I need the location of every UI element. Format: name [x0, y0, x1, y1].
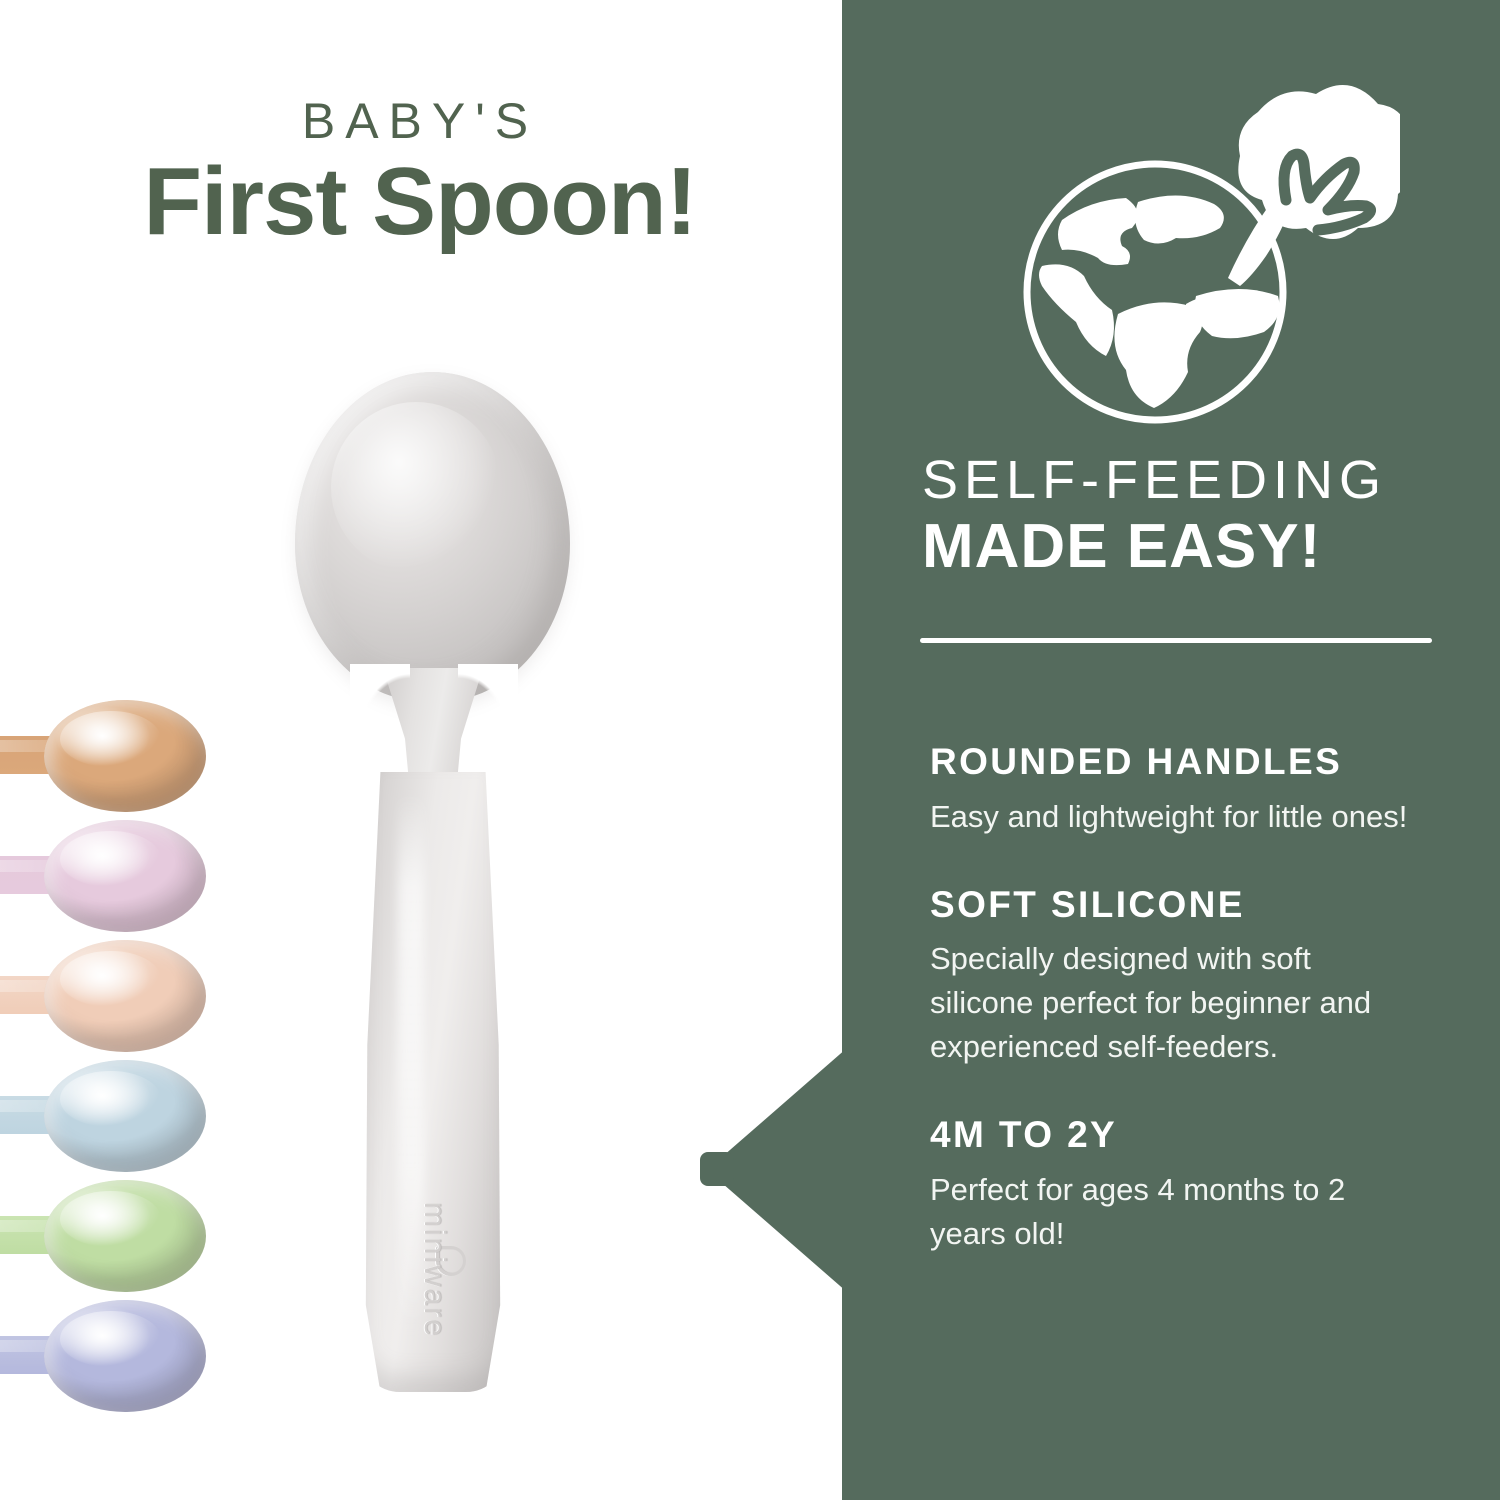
- feature-title: ROUNDED HANDLES: [930, 742, 1450, 783]
- feature-title: 4M TO 2Y: [930, 1115, 1450, 1156]
- page-title: First Spoon!: [0, 152, 840, 253]
- brand-emboss: miniware: [354, 1170, 514, 1370]
- colorway-spoon: [0, 940, 206, 1052]
- brand-emboss-label: miniware: [417, 1202, 451, 1338]
- feature-body: Easy and lightweight for little ones!: [930, 795, 1420, 839]
- spoon-bowl: [295, 372, 570, 702]
- feature-title: SOFT SILICONE: [930, 885, 1450, 926]
- panel-title: SELF-FEEDING MADE EASY!: [922, 452, 1462, 581]
- panel-pointer-arrow-tip: [700, 1152, 734, 1186]
- colorway-spoon: [0, 1300, 206, 1412]
- headline-block: BABY'S First Spoon!: [0, 96, 840, 253]
- globe-sprout-icon: [1000, 52, 1400, 432]
- product-infographic: BABY'S First Spoon! miniware: [0, 0, 1500, 1500]
- colorway-spoon-bowl: [44, 820, 206, 932]
- feature-body: Specially designed with soft silicone pe…: [930, 937, 1420, 1069]
- panel-title-line2: MADE EASY!: [922, 513, 1462, 581]
- panel-divider: [920, 638, 1432, 643]
- main-product-spoon: miniware: [290, 372, 580, 1402]
- colorway-spoon-bowl: [44, 940, 206, 1052]
- panel-title-line1: SELF-FEEDING: [922, 452, 1462, 509]
- spoon-neck-fillet-right: [458, 664, 518, 744]
- colorway-spoon: [0, 700, 206, 812]
- colorway-spoon: [0, 1180, 206, 1292]
- colorway-spoon-bowl: [44, 1300, 206, 1412]
- colorway-spoon-strip: [0, 700, 204, 1420]
- feature-item: ROUNDED HANDLES Easy and lightweight for…: [930, 742, 1450, 839]
- colorway-spoon-bowl: [44, 700, 206, 812]
- feature-item: SOFT SILICONE Specially designed with so…: [930, 885, 1450, 1070]
- colorway-spoon: [0, 1060, 206, 1172]
- eyebrow-text: BABY'S: [0, 96, 840, 146]
- feature-item: 4M TO 2Y Perfect for ages 4 months to 2 …: [930, 1115, 1450, 1256]
- spoon-neck-fillet-left: [350, 664, 410, 744]
- colorway-spoon-bowl: [44, 1060, 206, 1172]
- feature-list: ROUNDED HANDLES Easy and lightweight for…: [930, 742, 1450, 1302]
- colorway-spoon-bowl: [44, 1180, 206, 1292]
- feature-body: Perfect for ages 4 months to 2 years old…: [930, 1168, 1420, 1256]
- colorway-spoon: [0, 820, 206, 932]
